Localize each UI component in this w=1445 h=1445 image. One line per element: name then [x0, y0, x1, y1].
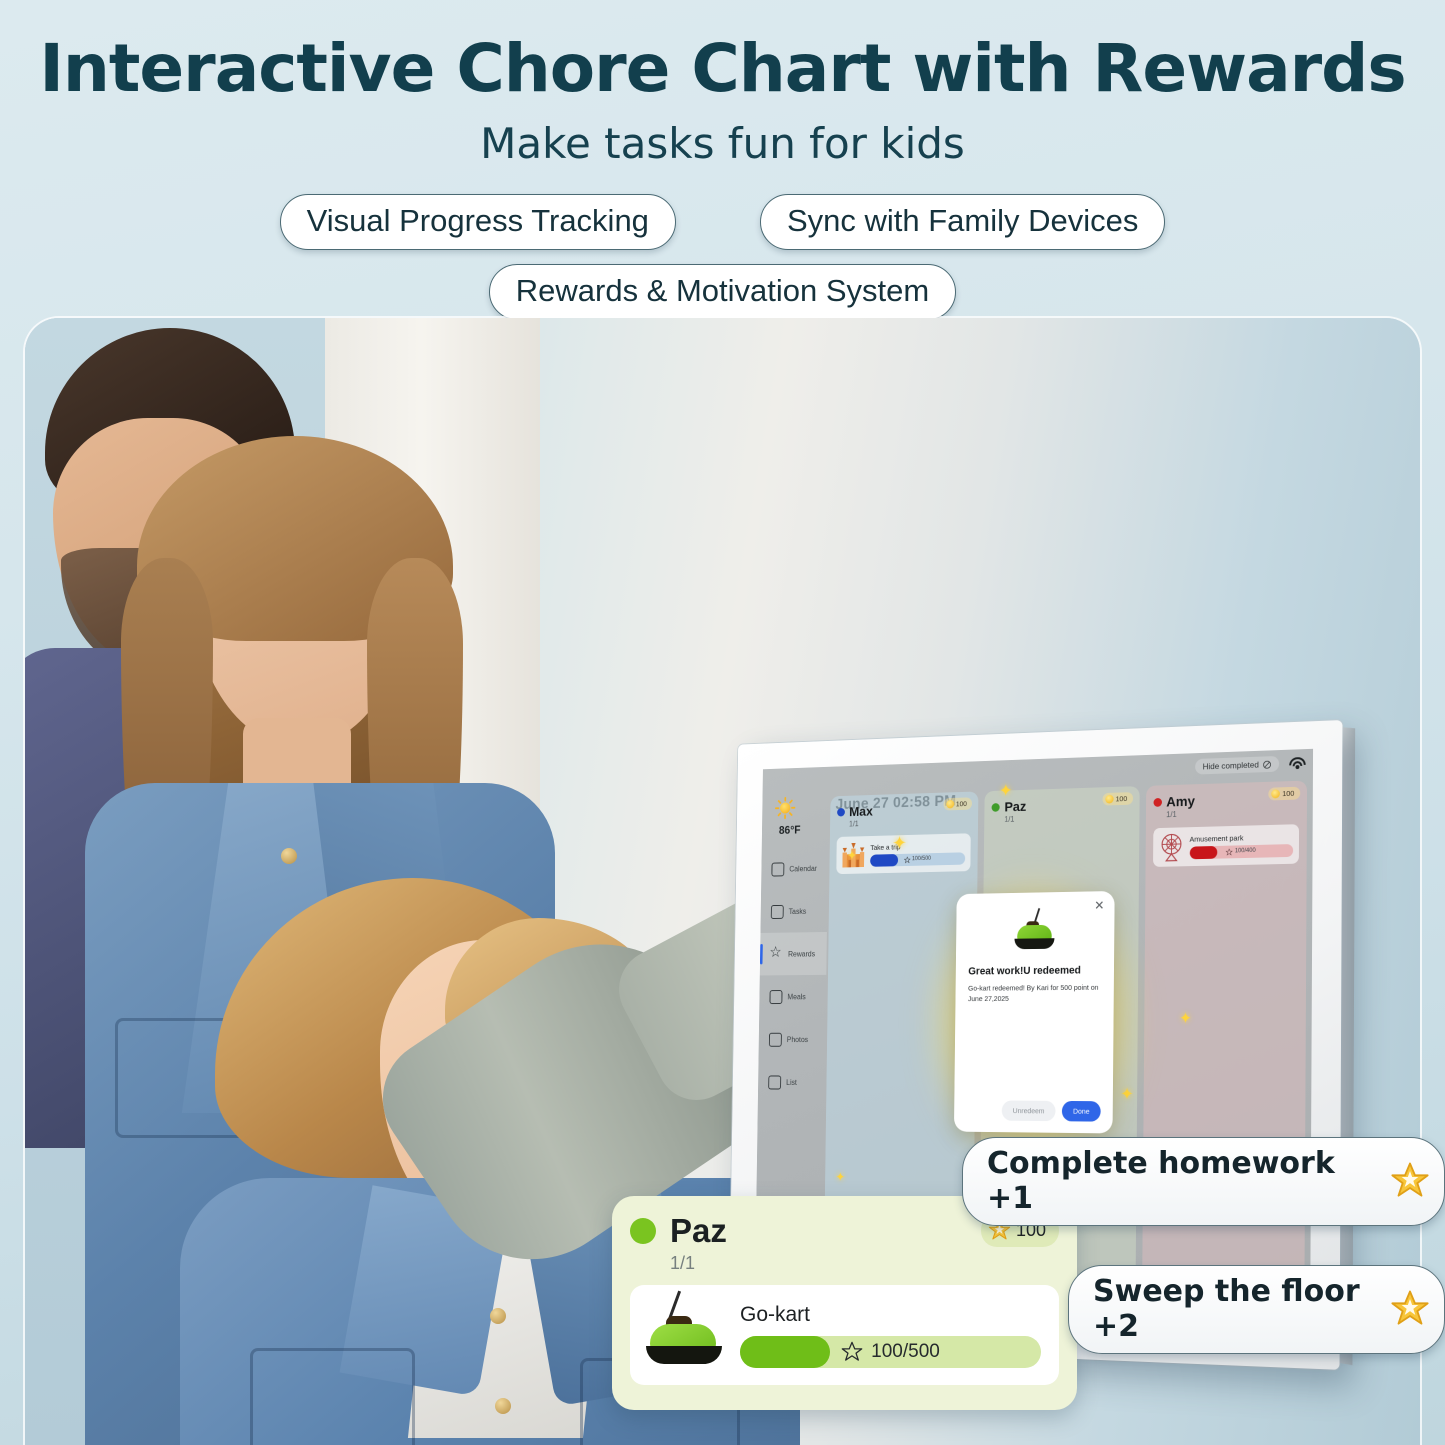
member-progress: 1/1: [670, 1253, 1059, 1274]
star-icon: [1390, 1289, 1430, 1329]
reward-task-card[interactable]: Take a trip 100/500: [836, 833, 971, 874]
callout-sweep-floor[interactable]: Sweep the floor +2: [1068, 1265, 1445, 1354]
feature-pill-sync-devices[interactable]: Sync with Family Devices: [760, 194, 1165, 250]
photos-icon: [769, 1032, 782, 1046]
points-badge: 100: [943, 797, 972, 810]
hide-completed-toggle[interactable]: Hide completed: [1195, 756, 1279, 775]
temperature-label: 86°F: [779, 823, 801, 837]
star-icon: [1390, 1161, 1430, 1201]
sidebar-item-rewards[interactable]: Rewards: [760, 932, 827, 975]
task-progress-bar: 100/400: [1189, 844, 1293, 859]
modal-title: Great work!U redeemed: [968, 965, 1101, 978]
modal-actions: Unredeem Done: [1002, 1100, 1101, 1121]
task-progress-label: 100/500: [912, 856, 931, 862]
unredeem-button[interactable]: Unredeem: [1002, 1100, 1056, 1121]
member-color-dot: [992, 803, 1000, 812]
task-progress-bar: 100/500: [740, 1336, 1041, 1368]
member-name: Max: [849, 803, 873, 819]
callout-complete-homework[interactable]: Complete homework +1: [962, 1137, 1445, 1226]
member-name: Paz: [1004, 798, 1026, 814]
done-button[interactable]: Done: [1062, 1101, 1101, 1122]
sidebar-item-label: Rewards: [788, 949, 815, 958]
task-name: Go-kart: [740, 1303, 1041, 1327]
sidebar-item-label: List: [786, 1078, 797, 1086]
star-icon: [904, 856, 910, 863]
star-icon: [1272, 789, 1281, 798]
callout-label: Complete homework +1: [987, 1146, 1386, 1216]
hide-completed-label: Hide completed: [1203, 760, 1259, 772]
list-icon: [768, 1075, 781, 1089]
callout-label: Sweep the floor +2: [1093, 1274, 1386, 1344]
task-progress-label: 100/500: [871, 1341, 940, 1363]
task-progress-bar: 100/500: [870, 852, 965, 867]
points-badge: 100: [1269, 787, 1300, 801]
feature-pill-rewards-system[interactable]: Rewards & Motivation System: [489, 264, 956, 320]
wifi-icon: [1289, 756, 1306, 769]
sidebar-item-tasks[interactable]: Tasks: [760, 889, 827, 933]
task-name: Take a trip: [870, 840, 965, 851]
task-info: Take a trip 100/500: [870, 840, 966, 866]
member-color-dot: [1153, 797, 1161, 806]
sidebar-item-label: Meals: [787, 992, 805, 1000]
castle-icon: [842, 841, 866, 870]
task-name: Amusement park: [1190, 832, 1294, 844]
go-kart-icon: [646, 1304, 722, 1366]
member-column-amy[interactable]: 100 Amy 1/1: [1142, 781, 1307, 1310]
sidebar-item-label: Tasks: [789, 907, 807, 916]
member-name: Amy: [1166, 793, 1195, 809]
feature-pill-row-2: Rewards & Motivation System: [0, 264, 1445, 320]
reward-task-card[interactable]: Amusement park 100/400: [1153, 824, 1299, 867]
task-info: Amusement park 100/400: [1189, 832, 1293, 859]
star-icon: [1105, 795, 1113, 804]
modal-body-text: Go-kart redeemed! By Kari for 500 point …: [968, 983, 1101, 1005]
page-title: Interactive Chore Chart with Rewards: [0, 34, 1445, 103]
points-value: 100: [1116, 794, 1128, 803]
member-color-dot: [837, 807, 845, 816]
screen-topbar: Hide completed: [1195, 755, 1305, 775]
weather-widget: 86°F: [775, 797, 801, 836]
feature-pill-visual-progress[interactable]: Visual Progress Tracking: [280, 194, 676, 250]
reward-redeemed-modal[interactable]: ✕ Great work!U redeemed Go-kart redeemed…: [954, 891, 1115, 1133]
tasks-icon: [771, 904, 784, 918]
go-kart-icon: [1013, 913, 1055, 950]
points-value: 100: [1282, 789, 1294, 798]
sidebar-item-meals[interactable]: Meals: [759, 975, 826, 1018]
close-icon[interactable]: ✕: [1094, 899, 1104, 912]
reward-task-card[interactable]: Go-kart 100/500: [630, 1285, 1059, 1385]
task-progress-label: 100/400: [1235, 848, 1256, 854]
page-subtitle: Make tasks fun for kids: [0, 119, 1445, 168]
star-icon: [770, 947, 783, 961]
promo-header: Interactive Chore Chart with Rewards Mak…: [0, 0, 1445, 320]
ferris-wheel-icon: [1158, 832, 1184, 862]
star-icon: [946, 800, 954, 809]
calendar-icon: [771, 862, 784, 876]
points-value: 100: [956, 799, 967, 808]
points-badge: 100: [1103, 792, 1133, 805]
meals-icon: [770, 990, 783, 1004]
paz-reward-card[interactable]: 100 Paz 1/1 Go-kart 100/500: [612, 1196, 1077, 1410]
member-color-dot: [630, 1218, 656, 1244]
sidebar-item-label: Photos: [787, 1035, 808, 1043]
task-info: Go-kart 100/500: [740, 1303, 1041, 1368]
sidebar-item-photos[interactable]: Photos: [758, 1018, 825, 1061]
sidebar-item-calendar[interactable]: Calendar: [761, 846, 828, 890]
feature-pill-row-1: Visual Progress Tracking Sync with Famil…: [0, 194, 1445, 250]
sidebar-item-list[interactable]: List: [758, 1061, 825, 1104]
member-name: Paz: [670, 1212, 727, 1250]
star-icon: [1226, 848, 1233, 855]
sidebar-item-label: Calendar: [789, 864, 817, 873]
star-icon: [841, 1341, 863, 1363]
eye-off-icon: [1263, 760, 1272, 769]
sun-icon: [776, 798, 795, 819]
